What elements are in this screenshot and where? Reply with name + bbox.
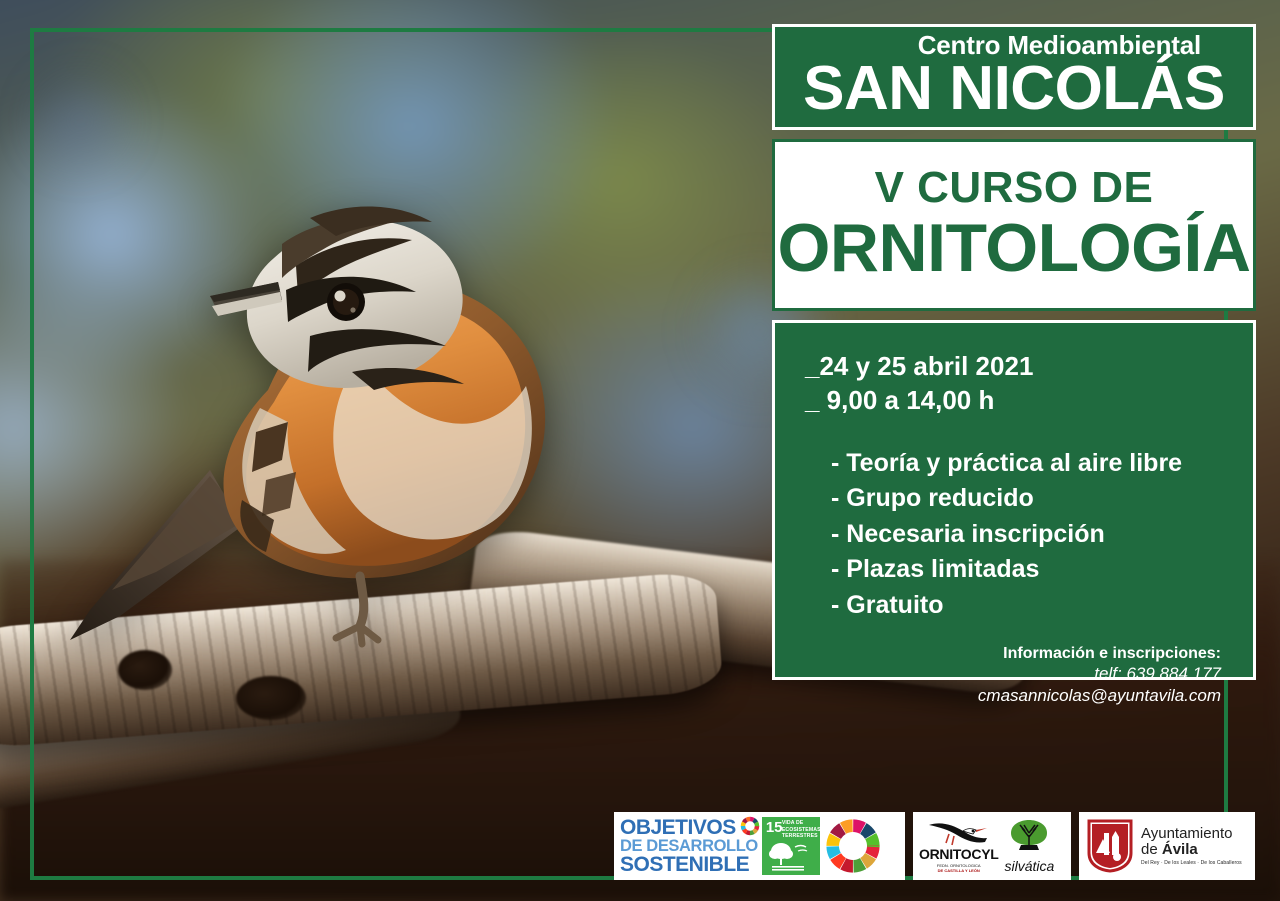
poster: Centro Medioambiental SAN NICOLÁS V CURS… [0, 0, 1280, 901]
branch-knot [236, 676, 306, 720]
list-item: - Teoría y práctica al aire libre [831, 446, 1231, 482]
course-time: _ 9,00 a 14,00 h [805, 383, 1231, 417]
ayuntamiento-line-1: Ayuntamiento [1141, 826, 1242, 842]
ornitocyl-subtitle: FEDN. ORNITOLOGICA DE CASTILLA Y LEÓN [937, 863, 981, 873]
list-item: - Gratuito [831, 588, 1231, 624]
ayuntamiento-logo-box: Ayuntamiento de Ávila Del Rey · De los L… [1079, 812, 1255, 880]
contact-block: Información e inscripciones: telf: 639 8… [805, 645, 1231, 707]
partner-logo-box: ORNITOCYL FEDN. ORNITOLOGICA DE CASTILLA… [913, 812, 1071, 880]
sdg-logo-box: OBJETIVOS DE DESARROLLO SOSTENIBLE 15 VI… [614, 812, 905, 880]
center-title: SAN NICOLÁS [803, 60, 1225, 117]
ornitocyl-logo: ORNITOCYL FEDN. ORNITOLOGICA DE CASTILLA… [919, 819, 999, 873]
ods-line-2: DE DESARROLLO [620, 838, 758, 855]
course-features-list: - Teoría y práctica al aire libre - Grup… [805, 446, 1231, 624]
contact-email[interactable]: cmasannicolas@ayuntavila.com [805, 685, 1221, 707]
sponsor-logo-strip: OBJETIVOS DE DESARROLLO SOSTENIBLE 15 VI… [614, 812, 1255, 880]
list-item: - Plazas limitadas [831, 552, 1231, 588]
ornitocyl-name: ORNITOCYL [919, 847, 999, 861]
silvatica-logo: silvática [1005, 819, 1055, 874]
ayuntamiento-line-2: de Ávila [1141, 842, 1242, 858]
contact-heading: Información e inscripciones: [805, 645, 1221, 663]
center-name-panel: Centro Medioambiental SAN NICOLÁS [772, 24, 1256, 130]
course-info-panel: _24 y 25 abril 2021 _ 9,00 a 14,00 h - T… [772, 320, 1256, 680]
sdg-colour-wheel-icon [824, 817, 882, 875]
tree-canopy-icon [1005, 819, 1053, 857]
course-date: _24 y 25 abril 2021 [805, 349, 1231, 383]
ods-wordmark: OBJETIVOS DE DESARROLLO SOSTENIBLE [620, 817, 758, 876]
stork-bird-icon [927, 819, 991, 847]
ayuntamiento-motto: Del Rey · De los Leales · De los Caballe… [1141, 861, 1242, 866]
ayuntamiento-text: Ayuntamiento de Ávila Del Rey · De los L… [1141, 826, 1242, 867]
course-title-panel: V CURSO DE ORNITOLOGÍA [772, 139, 1256, 311]
list-item: - Grupo reducido [831, 481, 1231, 517]
sdg-colour-wheel-small-icon [740, 816, 760, 836]
list-item: - Necesaria inscripción [831, 517, 1231, 553]
avila-coat-of-arms-icon [1087, 819, 1133, 873]
course-edition-label: V CURSO DE [875, 166, 1154, 210]
silvatica-name: silvática [1005, 858, 1055, 874]
tree-icon [762, 817, 820, 875]
course-subject-label: ORNITOLOGÍA [777, 214, 1250, 283]
contact-phone[interactable]: telf: 639 884 177 [805, 663, 1221, 685]
ods-line-3: SOSTENIBLE [620, 854, 758, 875]
sdg-goal-15-tile: 15 VIDA DE ECOSISTEMAS TERRESTRES [762, 817, 820, 875]
rock-bunting-bird [60, 140, 660, 660]
ods-line-1: OBJETIVOS [620, 817, 758, 838]
